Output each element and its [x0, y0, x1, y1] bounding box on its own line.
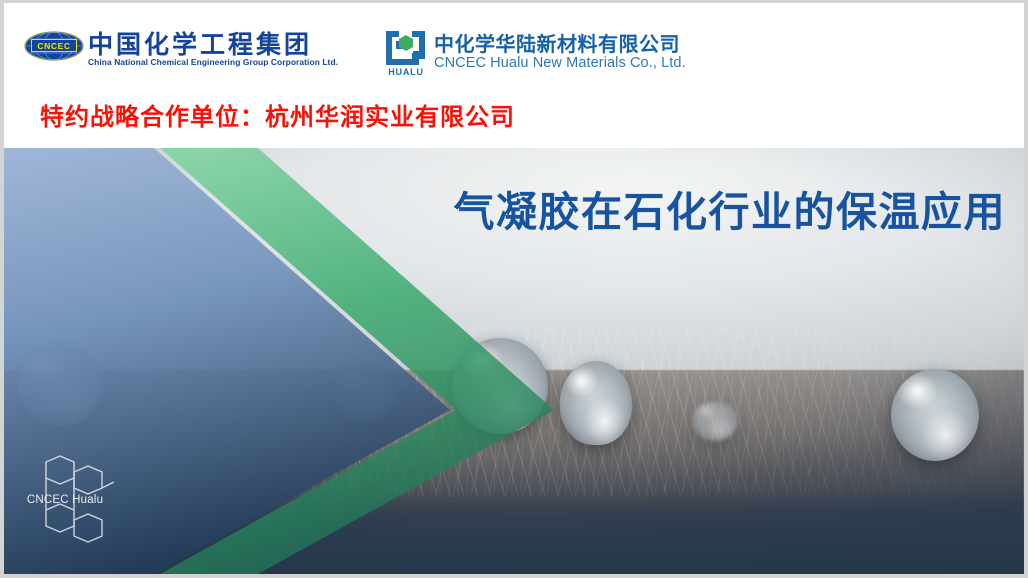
- hualu-english-name: CNCEC Hualu New Materials Co., Ltd.: [434, 55, 686, 71]
- cncec-mark-text: CNCEC: [31, 39, 77, 52]
- hualu-mark-text: HUALU: [384, 67, 428, 77]
- hero-banner: 气凝胶在石化行业的保温应用 CNCEC Hualu: [4, 148, 1024, 574]
- cncec-english-name: China National Chemical Engineering Grou…: [88, 57, 338, 67]
- logo-row: CNCEC 中国化学工程集团 China National Chemical E…: [4, 3, 1024, 87]
- hero-title: 气凝胶在石化行业的保温应用: [454, 178, 1007, 238]
- hualu-bracket-icon: HUALU: [382, 29, 430, 79]
- globe-icon: CNCEC: [24, 31, 84, 61]
- slide-header: CNCEC 中国化学工程集团 China National Chemical E…: [4, 3, 1024, 148]
- watermark-label: CNCEC Hualu: [14, 494, 116, 506]
- slide-border-bottom: [0, 574, 1028, 578]
- partner-line: 特约战略合作单位：杭州华润实业有限公司: [40, 97, 515, 132]
- cncec-chinese-name: 中国化学工程集团: [88, 25, 312, 61]
- slide-border-right: [1024, 0, 1028, 578]
- hualu-logo: HUALU 中化学华陆新材料有限公司 CNCEC Hualu New Mater…: [382, 29, 672, 81]
- cncec-logo: CNCEC 中国化学工程集团 China National Chemical E…: [24, 29, 320, 77]
- watermark-logo: CNCEC Hualu: [10, 452, 120, 548]
- hualu-chinese-name: 中化学华陆新材料有限公司: [434, 28, 680, 57]
- presentation-slide: CNCEC 中国化学工程集团 China National Chemical E…: [0, 0, 1028, 578]
